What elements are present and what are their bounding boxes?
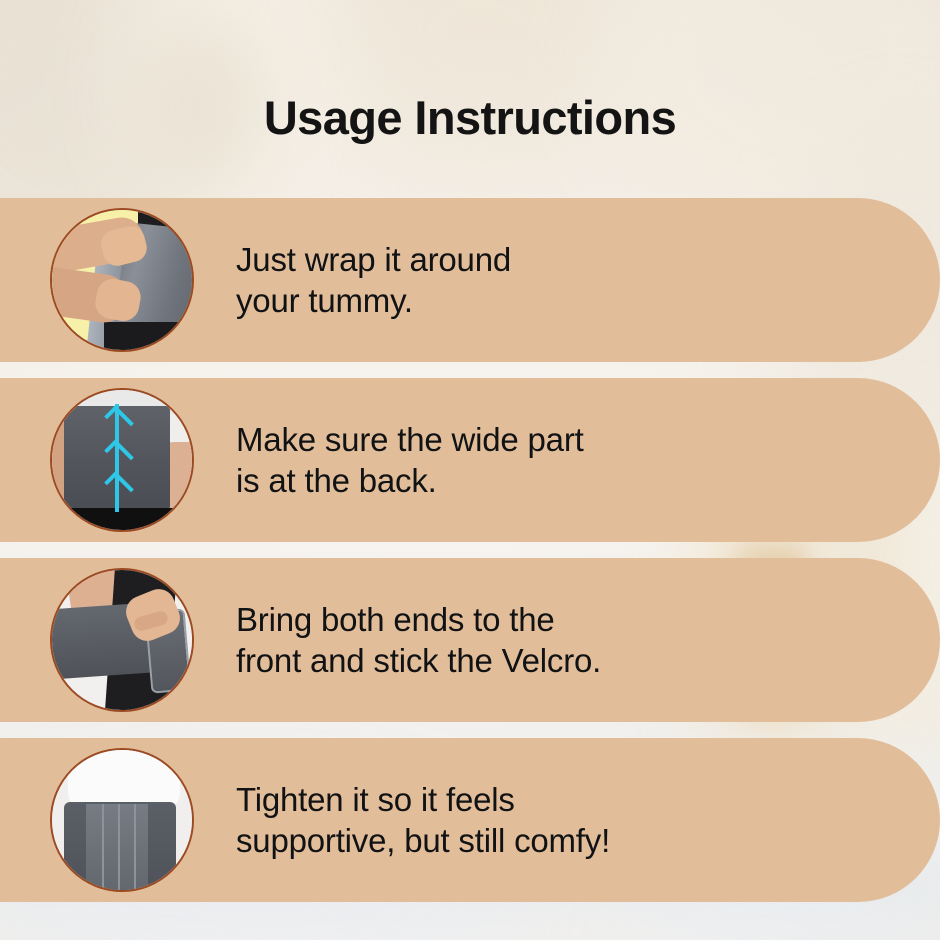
photo-tighten-belt	[50, 748, 194, 892]
instruction-step-2: Make sure the wide part is at the back.	[0, 378, 940, 542]
photo-wrap-around-tummy	[50, 208, 194, 352]
instruction-list: Just wrap it around your tummy. Make	[0, 198, 940, 902]
instruction-caption-3: Bring both ends to the front and stick t…	[236, 599, 601, 682]
photo-wide-part-at-back	[50, 388, 194, 532]
photo-stick-velcro-front	[50, 568, 194, 712]
instruction-step-1: Just wrap it around your tummy.	[0, 198, 940, 362]
instruction-step-3: Bring both ends to the front and stick t…	[0, 558, 940, 722]
instruction-step-4: Tighten it so it feels supportive, but s…	[0, 738, 940, 902]
usage-instructions-card: Usage Instructions Just wrap it ar	[0, 0, 940, 940]
instruction-caption-4: Tighten it so it feels supportive, but s…	[236, 779, 610, 862]
page-title: Usage Instructions	[0, 93, 940, 142]
instruction-caption-2: Make sure the wide part is at the back.	[236, 419, 584, 502]
instruction-caption-1: Just wrap it around your tummy.	[236, 239, 511, 322]
